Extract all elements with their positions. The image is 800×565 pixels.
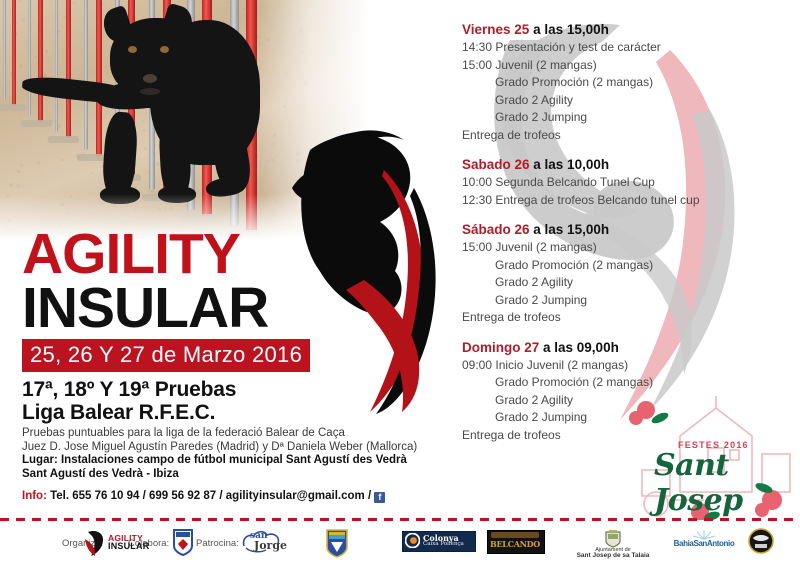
slalom-pole-red — [66, 0, 71, 138]
schedule-row: Grado Promoción (2 mangas) — [462, 74, 792, 92]
sponsor-belcando[interactable]: BELCANDO — [487, 528, 543, 556]
schedule-day-heading: Sabado 26 a las 10,00h — [462, 155, 792, 174]
schedule-block: Sabado 26 a las 10,00h10:00 Segunda Belc… — [462, 155, 792, 209]
dashed-divider — [0, 518, 800, 521]
pole-base — [21, 120, 52, 127]
slalom-pole-grey — [84, 0, 88, 150]
schedule-row: 12:30 Entrega de trofeos Belcando tunel … — [462, 192, 792, 210]
liga-line: Liga Balear R.F.E.C. — [22, 401, 442, 424]
sponsor-sanjorge-line2: Jorge — [254, 539, 287, 552]
slalom-pole-grey — [3, 0, 6, 100]
venue-line-2: Sant Agustí des Vedrà - Ibiza — [22, 468, 442, 482]
sponsor-agility-insular[interactable]: AGILITY INSULAR — [84, 528, 162, 558]
title-insular: INSULAR — [22, 280, 362, 336]
slalom-pole-red — [12, 0, 16, 106]
schedule-row: Grado 2 Jumping — [462, 292, 792, 310]
schedule-day-heading: Viernes 25 a las 15,00h — [462, 20, 792, 39]
poster-title: AGILITY INSULAR 25, 26 Y 27 de Marzo 201… — [22, 228, 362, 372]
schedule-time: a las 15,00h — [530, 222, 610, 237]
poster-root: AGILITY INSULAR 25, 26 Y 27 de Marzo 201… — [0, 0, 800, 565]
info-value[interactable]: Tel. 655 76 10 94 / 699 56 92 87 / agili… — [50, 490, 371, 502]
facebook-icon[interactable]: f — [374, 492, 385, 503]
schedule-row: Entrega de trofeos — [462, 127, 792, 145]
event-details: 17ª, 18º Y 19ª Pruebas Liga Balear R.F.E… — [22, 378, 442, 503]
sponsor-dark-crest[interactable] — [748, 528, 776, 558]
schedule-block: Sábado 26 a las 15,00h15:00 Juvenil (2 m… — [462, 220, 792, 327]
sponsor-ajuntament-sant-josep[interactable]: Ajuntament de Sant Josep de sa Talaia — [565, 528, 661, 562]
sponsor-club-crest-blue[interactable] — [325, 528, 351, 560]
sponsor-colonya[interactable]: Colonya Caixa Pollença — [402, 528, 474, 554]
schedule-row: 15:00 Juvenil (2 mangas) — [462, 239, 792, 257]
schedule-list: Viernes 25 a las 15,00h14:30 Presentació… — [462, 20, 792, 455]
schedule-row: 14:30 Presentación y test de carácter — [462, 39, 792, 57]
title-agility: AGILITY — [22, 228, 362, 280]
sant-josep-badge: FESTES 2016 Sant Josep — [612, 392, 800, 520]
sponsor-club-crest-red[interactable] — [172, 528, 196, 558]
sponsor-san-jorge[interactable]: san Jorge — [240, 528, 300, 558]
sponsor-bahia-san-antonio[interactable]: BahiaSanAntonio · — [672, 528, 736, 556]
schedule-row: Grado Promoción (2 mangas) — [462, 374, 792, 392]
schedule-row: Grado 2 Jumping — [462, 109, 792, 127]
schedule-time: a las 10,00h — [530, 157, 610, 172]
sponsor-bar: Organiza:Colabora:Patrocina: AGILITY INS… — [0, 524, 800, 565]
date-band: 25, 26 Y 27 de Marzo 2016 — [22, 339, 310, 372]
schedule-row: Grado Promoción (2 mangas) — [462, 257, 792, 275]
schedule-row: 15:00 Juvenil (2 mangas) — [462, 57, 792, 75]
sponsor-bahia-tagline: · — [672, 547, 736, 552]
schedule-day: Domingo 27 — [462, 340, 539, 355]
info-label: Info: — [22, 490, 47, 502]
schedule-block: Viernes 25 a las 15,00h14:30 Presentació… — [462, 20, 792, 144]
desc-line-1: Pruebas puntuables para la liga de la fe… — [22, 427, 442, 441]
schedule-day: Sábado 26 — [462, 222, 530, 237]
sponsor-belcando-line1: BELCANDO — [487, 539, 543, 549]
pruebas-line: 17ª, 18º Y 19ª Pruebas — [22, 378, 442, 401]
desc-line-2: Juez D. Jose Miguel Agustín Paredes (Mad… — [22, 441, 442, 455]
venue-label: Lugar: — [22, 454, 58, 466]
slalom-pole-red — [38, 0, 43, 122]
sponsor-ajuntament-line2: Sant Josep de sa Talaia — [565, 553, 661, 559]
schedule-day: Sabado 26 — [462, 157, 530, 172]
schedule-day-heading: Domingo 27 a las 09,00h — [462, 338, 792, 357]
schedule-row: 09:00 Inicio Juvenil (2 mangas) — [462, 357, 792, 375]
slalom-pole-grey — [28, 0, 31, 116]
schedule-row: Grado 2 Agility — [462, 274, 792, 292]
venue-line-1: Lugar: Instalaciones campo de fútbol mun… — [22, 454, 442, 468]
schedule-row: 10:00 Segunda Belcando Tunel Cup — [462, 174, 792, 192]
schedule-day-heading: Sábado 26 a las 15,00h — [462, 220, 792, 239]
sponsor-colonya-line2: Caixa Pollença — [423, 541, 464, 547]
schedule-day: Viernes 25 — [462, 22, 529, 37]
schedule-time: a las 15,00h — [529, 22, 609, 37]
schedule-row: Entrega de trofeos — [462, 309, 792, 327]
schedule-row: Grado 2 Agility — [462, 92, 792, 110]
schedule-time: a las 09,00h — [539, 340, 619, 355]
pole-base — [48, 136, 79, 143]
slalom-pole-grey — [55, 0, 58, 132]
sponsor-label: Patrocina: — [196, 538, 239, 549]
sant-josep-name: Sant Josep — [654, 448, 800, 518]
pole-base — [0, 104, 26, 111]
slalom-pole-red — [96, 0, 102, 156]
contact-line: Info: Tel. 655 76 10 94 / 699 56 92 87 /… — [22, 489, 442, 503]
venue-value: Instalaciones campo de fútbol municipal … — [61, 454, 407, 466]
sponsor-agility-line2: INSULAR — [108, 541, 149, 551]
